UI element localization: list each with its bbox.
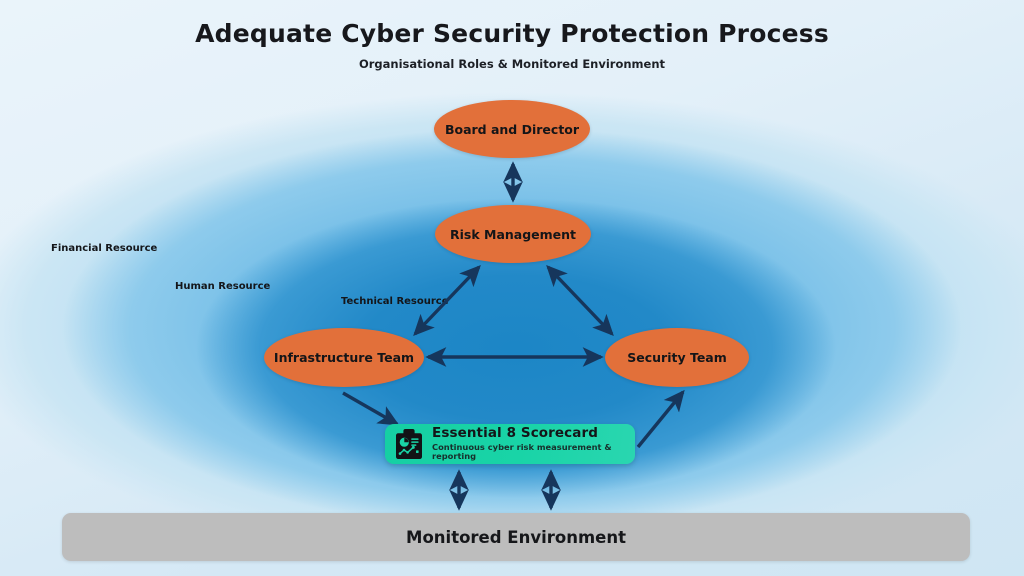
arrow-risk-security [548,267,612,334]
node-label: Risk Management [450,227,576,242]
ring-label-human-resource: Human Resource [175,281,270,292]
node-infrastructure-team[interactable]: Infrastructure Team [264,328,424,387]
node-board-and-director[interactable]: Board and Director [434,100,590,158]
ring-financial-resource [0,92,1024,562]
scorecard-text-group: Essential 8 Scorecard Continuous cyber r… [432,426,625,462]
diagram-canvas: Adequate Cyber Security Protection Proce… [0,0,1024,576]
node-label: Security Team [627,350,727,365]
arrow-infrastructure-scorecard [343,393,397,424]
connector-arrows [0,0,1024,576]
monitored-environment-label: Monitored Environment [406,528,626,547]
node-risk-management[interactable]: Risk Management [435,205,591,263]
essential-8-scorecard-card[interactable]: Essential 8 Scorecard Continuous cyber r… [385,424,635,464]
scorecard-subtitle: Continuous cyber risk measurement & repo… [432,443,625,462]
clipboard-chart-icon [395,429,423,459]
node-label: Infrastructure Team [274,350,414,365]
arrow-scorecard-security [638,392,683,447]
scorecard-title: Essential 8 Scorecard [432,426,625,442]
monitored-environment-bar[interactable]: Monitored Environment [62,513,970,561]
node-security-team[interactable]: Security Team [605,328,749,387]
ring-label-technical-resource: Technical Resource [341,296,449,307]
ring-label-financial-resource: Financial Resource [51,243,157,254]
node-label: Board and Director [445,122,579,137]
ring-human-resource [62,128,962,528]
page-subtitle: Organisational Roles & Monitored Environ… [0,57,1024,71]
page-title: Adequate Cyber Security Protection Proce… [0,19,1024,48]
